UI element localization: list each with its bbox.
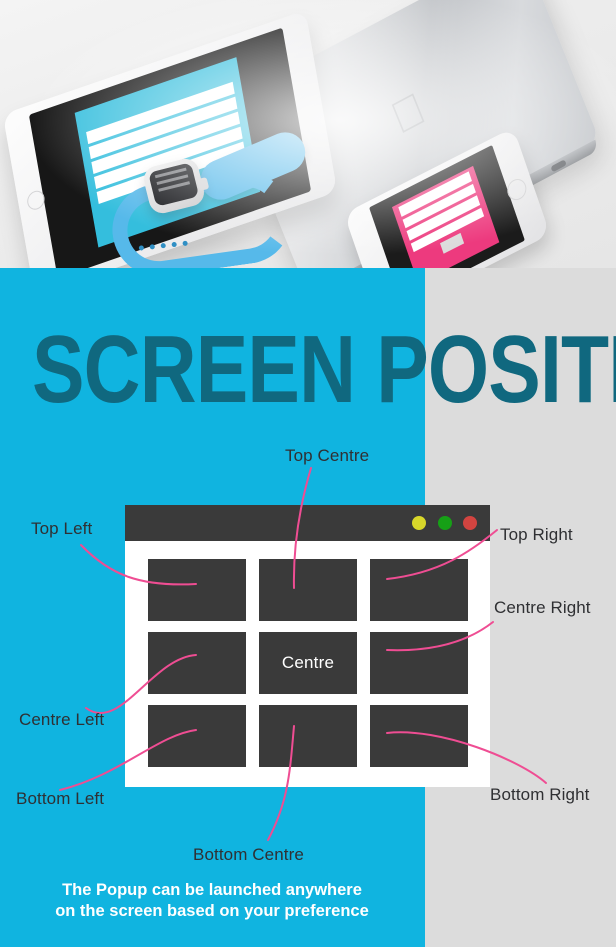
label-bottom-left: Bottom Left bbox=[16, 789, 104, 809]
grid-cell-top-centre[interactable] bbox=[259, 559, 357, 621]
label-centre-right: Centre Right bbox=[494, 598, 591, 618]
grid-cell-top-right[interactable] bbox=[370, 559, 468, 621]
caption-line-1: The Popup can be launched anywhere bbox=[14, 880, 410, 901]
ipad-popup-field bbox=[86, 82, 235, 145]
iphone-popup-field bbox=[411, 207, 485, 252]
label-bottom-centre: Bottom Centre bbox=[193, 845, 304, 865]
ipad-popup bbox=[74, 57, 260, 247]
caption-line-2: on the screen based on your preference bbox=[14, 901, 410, 922]
browser-window-mockup: Centre bbox=[125, 505, 490, 787]
ipad-popup-field bbox=[91, 112, 240, 175]
grid-cell-bottom-centre[interactable] bbox=[259, 705, 357, 767]
ipad-popup-submit bbox=[155, 177, 193, 201]
grid-cell-centre-left[interactable] bbox=[148, 632, 246, 694]
iphone-popup bbox=[392, 166, 499, 268]
grid-cell-top-left[interactable] bbox=[148, 559, 246, 621]
ipad-popup-field bbox=[94, 127, 243, 190]
label-bottom-right: Bottom Right bbox=[490, 785, 589, 805]
apple-watch-device bbox=[112, 148, 292, 260]
minimize-button[interactable] bbox=[412, 516, 426, 530]
iphone-popup-submit bbox=[440, 233, 465, 254]
poster-root:  bbox=[0, 0, 616, 947]
iphone-popup-field bbox=[407, 195, 481, 240]
macbook-port bbox=[550, 159, 566, 172]
watch-digital-crown-icon bbox=[197, 177, 210, 191]
grid-cell-centre[interactable]: Centre bbox=[259, 632, 357, 694]
position-grid: Centre bbox=[148, 559, 468, 767]
grid-cell-centre-right[interactable] bbox=[370, 632, 468, 694]
label-top-right: Top Right bbox=[500, 525, 573, 545]
caption: The Popup can be launched anywhere on th… bbox=[14, 880, 410, 922]
label-top-centre: Top Centre bbox=[285, 446, 369, 466]
ipad-popup-header bbox=[74, 57, 239, 132]
page-title: SCREEN POSITIONS bbox=[32, 322, 511, 418]
iphone-popup-field bbox=[403, 183, 477, 228]
grid-cell-label: Centre bbox=[282, 653, 334, 673]
macbook-device:  bbox=[230, 0, 600, 268]
watch-band-upper bbox=[195, 126, 312, 206]
ipad-device bbox=[3, 10, 338, 268]
iphone-device bbox=[344, 127, 550, 268]
label-top-left: Top Left bbox=[31, 519, 92, 539]
maximize-button[interactable] bbox=[438, 516, 452, 530]
macbook-edge bbox=[311, 140, 599, 268]
watch-screen bbox=[148, 162, 199, 207]
iphone-popup-field bbox=[398, 171, 472, 216]
watch-case bbox=[141, 156, 207, 216]
watch-band-holes bbox=[138, 230, 210, 245]
macbook-lid bbox=[230, 0, 600, 268]
grid-cell-bottom-right[interactable] bbox=[370, 705, 468, 767]
ipad-popup-field bbox=[96, 142, 245, 205]
ipad-popup-field bbox=[88, 97, 237, 160]
ipad-home-button-icon bbox=[26, 188, 46, 212]
iphone-home-button-icon bbox=[505, 175, 529, 203]
iphone-screen bbox=[369, 145, 525, 268]
grid-cell-bottom-left[interactable] bbox=[148, 705, 246, 767]
device-photo:  bbox=[0, 0, 616, 268]
apple-logo-icon:  bbox=[386, 86, 432, 143]
ipad-screen bbox=[29, 28, 311, 268]
window-titlebar bbox=[125, 505, 490, 541]
watch-band-lower bbox=[106, 166, 297, 268]
label-centre-left: Centre Left bbox=[19, 710, 104, 730]
close-button[interactable] bbox=[463, 516, 477, 530]
window-controls bbox=[405, 516, 477, 534]
